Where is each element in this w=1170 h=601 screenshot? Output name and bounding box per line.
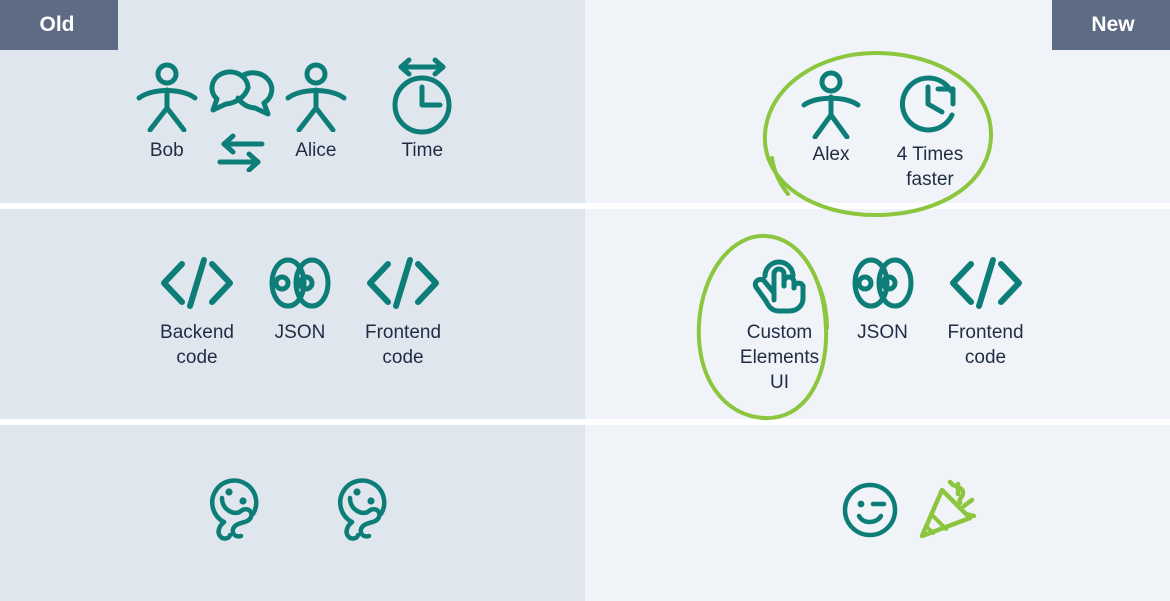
label-json-right: JSON	[857, 320, 908, 345]
clock-refresh-icon	[897, 70, 963, 138]
label-frontend-code-left-line2: code	[382, 347, 423, 368]
group-json-right: JSON	[835, 250, 931, 345]
code-brackets-icon	[364, 250, 442, 316]
label-backend-code-line2: code	[176, 347, 217, 368]
label-time: Time	[402, 138, 444, 163]
group-alex: Alex	[790, 70, 872, 167]
old-row-people: Bob	[130, 58, 470, 172]
group-4-times-faster: 4 Times faster	[880, 70, 980, 192]
label-elements: Elements	[740, 347, 819, 368]
tap-gesture-icon	[747, 250, 813, 316]
melting-face-icon	[205, 470, 267, 546]
badge-new: New	[1052, 0, 1170, 50]
label-frontend-code-right: Frontend code	[947, 320, 1023, 370]
old-row-mood	[205, 470, 395, 546]
new-row-people: Alex 4 Times faster	[790, 70, 980, 192]
stick-figure-icon	[798, 70, 864, 138]
badge-old: Old	[0, 0, 118, 50]
label-ui: UI	[770, 372, 789, 393]
label-frontend-code-right-line2: code	[965, 347, 1006, 368]
stick-figure-icon	[134, 58, 200, 134]
row-divider-2	[0, 419, 1170, 425]
label-4-times-faster: 4 Times faster	[897, 142, 964, 192]
new-row-code: Custom Elements UI JSON	[710, 250, 1055, 395]
party-popper-icon	[916, 478, 980, 542]
group-frontend-code-left: Frontend code	[348, 250, 458, 370]
label-faster: faster	[906, 169, 954, 190]
stick-figure-icon	[283, 58, 349, 134]
code-brackets-icon	[158, 250, 236, 316]
group-alice: Alice	[279, 58, 353, 163]
group-conversation	[204, 58, 280, 172]
group-json-left: JSON	[252, 250, 348, 345]
new-row-mood	[840, 478, 980, 542]
label-4-times: 4 Times	[897, 144, 964, 165]
label-frontend-code-right-line1: Frontend	[947, 322, 1023, 343]
label-json-left: JSON	[275, 320, 326, 345]
group-frontend-code-right: Frontend code	[931, 250, 1041, 370]
eyes-icon	[852, 250, 914, 316]
label-backend-code-line1: Backend	[160, 322, 234, 343]
label-alex: Alex	[813, 142, 850, 167]
eyes-icon	[269, 250, 331, 316]
melting-face-icon	[333, 470, 395, 546]
label-backend-code: Backend code	[160, 320, 234, 370]
winking-face-icon	[840, 480, 900, 540]
code-brackets-icon	[947, 250, 1025, 316]
label-bob: Bob	[150, 138, 184, 163]
badge-new-label: New	[1091, 13, 1134, 37]
label-custom-elements-ui: Custom Elements UI	[740, 320, 819, 395]
group-backend-code: Backend code	[142, 250, 252, 370]
old-row-code: Backend code JSON	[130, 250, 470, 370]
group-custom-elements-ui: Custom Elements UI	[725, 250, 835, 395]
label-frontend-code-left-line1: Frontend	[365, 322, 441, 343]
badge-old-label: Old	[40, 13, 75, 37]
label-alice: Alice	[295, 138, 336, 163]
comparison-board: Old New Bob	[0, 0, 1170, 601]
label-frontend-code-left: Frontend code	[365, 320, 441, 370]
row-divider-1	[0, 203, 1170, 209]
speech-bubbles-icon	[204, 58, 278, 134]
group-time: Time	[375, 58, 470, 163]
label-custom: Custom	[747, 322, 812, 343]
exchange-arrows-icon	[216, 132, 266, 172]
group-bob: Bob	[130, 58, 204, 163]
clock-with-arrow-icon	[385, 58, 459, 134]
